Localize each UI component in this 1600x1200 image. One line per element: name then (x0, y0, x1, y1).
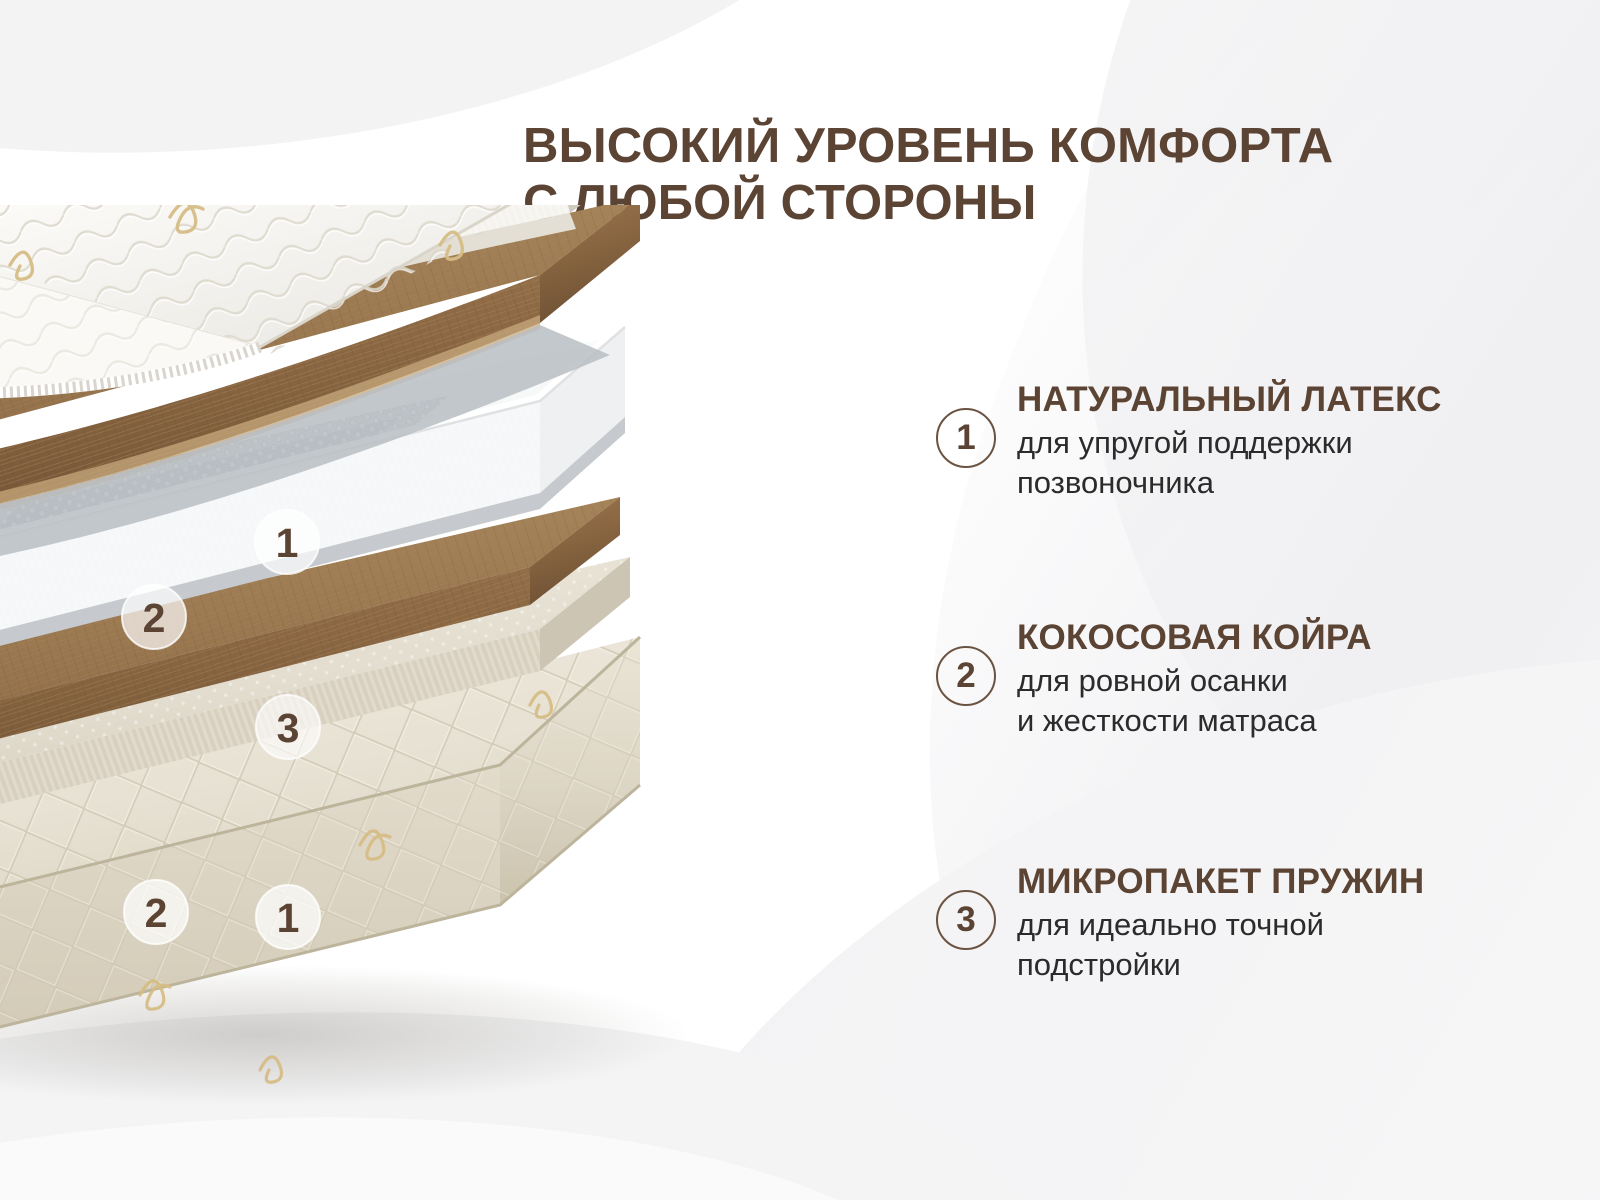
feature-text-2: КОКОСОВАЯ КОЙРА для ровной осанки и жест… (1017, 616, 1372, 740)
feature-text-3: МИКРОПАКЕТ ПРУЖИН для идеально точной по… (1017, 860, 1424, 984)
feature-badge-2: 2 (936, 646, 996, 706)
illustration-callout-1-top: 1 (255, 510, 319, 574)
feature-text-1: НАТУРАЛЬНЫЙ ЛАТЕКС для упругой поддержки… (1017, 378, 1442, 502)
illustration-callout-1-top-label: 1 (276, 520, 299, 566)
feature-badge-3: 3 (936, 890, 996, 950)
feature-heading-2: КОКОСОВАЯ КОЙРА (1017, 618, 1372, 657)
illustration-callout-1-bottom-label: 1 (277, 895, 300, 941)
mattress-illustration: 1 2 3 2 1 (0, 205, 860, 1105)
illustration-callout-2-bottom-label: 2 (145, 890, 168, 936)
feature-desc-1-line-1: для упругой поддержки (1017, 423, 1442, 462)
feature-item-springs: 3 МИКРОПАКЕТ ПРУЖИН для идеально точной … (936, 860, 1424, 984)
feature-badge-1: 1 (936, 408, 996, 468)
illustration-callout-2-top: 2 (122, 585, 186, 649)
feature-heading-3: МИКРОПАКЕТ ПРУЖИН (1017, 862, 1424, 901)
feature-item-latex: 1 НАТУРАЛЬНЫЙ ЛАТЕКС для упругой поддерж… (936, 378, 1442, 502)
illustration-callout-3-label: 3 (277, 705, 300, 751)
feature-desc-3-line-1: для идеально точной (1017, 905, 1424, 944)
feature-heading-1: НАТУРАЛЬНЫЙ ЛАТЕКС (1017, 380, 1442, 419)
feature-desc-2-line-1: для ровной осанки (1017, 661, 1372, 700)
illustration-callout-2-bottom: 2 (124, 880, 188, 944)
feature-item-coir: 2 КОКОСОВАЯ КОЙРА для ровной осанки и же… (936, 616, 1372, 740)
feature-desc-3-line-2: подстройки (1017, 945, 1424, 984)
feature-desc-1-line-2: позвоночника (1017, 463, 1442, 502)
illustration-callout-3: 3 (256, 695, 320, 759)
page-title-line-1: ВЫСОКИЙ УРОВЕНЬ КОМФОРТА (523, 118, 1533, 175)
illustration-callout-1-bottom: 1 (256, 885, 320, 949)
infographic-canvas: ВЫСОКИЙ УРОВЕНЬ КОМФОРТА С ЛЮБОЙ СТОРОНЫ (0, 0, 1600, 1200)
feature-desc-2-line-2: и жесткости матраса (1017, 701, 1372, 740)
illustration-callout-2-top-label: 2 (143, 595, 166, 641)
